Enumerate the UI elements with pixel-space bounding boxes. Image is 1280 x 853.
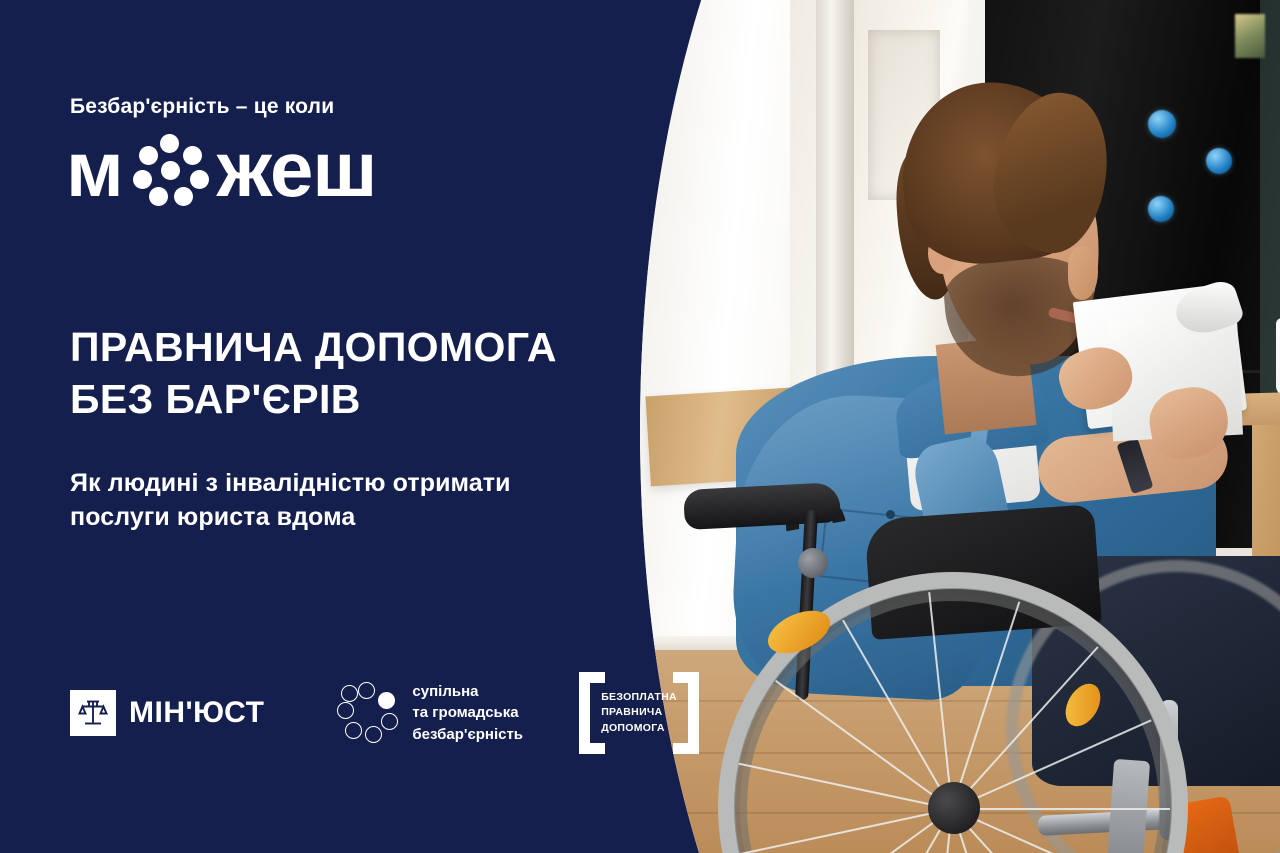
fridge-sticker <box>1235 14 1265 58</box>
dot-circle-cluster-icon <box>127 128 213 210</box>
kicker-text: Безбар'єрність – це коли <box>70 95 334 119</box>
bpd-line-2: ПРАВНИЧА <box>601 706 662 718</box>
subhead-line-1: Як людині з інвалідністю отримати <box>70 467 511 501</box>
subhead-line-2: послуги юриста вдома <box>70 501 511 535</box>
square-bracket-left-icon <box>579 672 605 754</box>
logo-minjust-label: МІН'ЮСТ <box>129 696 264 730</box>
bezbar-line-1: супільна <box>412 683 478 700</box>
wheel-spoke <box>952 808 1170 810</box>
shirt-button <box>886 510 895 519</box>
headline-line-2: БЕЗ БАР'ЄРІВ <box>70 374 557 426</box>
fridge-magnet <box>1148 110 1176 138</box>
bezbar-line-3: безбар'єрність <box>412 726 523 743</box>
photo-region <box>640 0 1280 853</box>
bpd-line-3: ДОПОМОГА <box>601 722 665 734</box>
bpd-line-1: БЕЗОПЛАТНА <box>601 691 677 703</box>
coffee-mug <box>1276 318 1280 396</box>
photo-circle-mask <box>640 0 1280 853</box>
logo-bezbariernist: супільна та громадська безбар'єрність <box>336 681 523 745</box>
page-subtitle: Як людині з інвалідністю отримати послуг… <box>70 467 511 534</box>
page-title: ПРАВНИЧА ДОПОМОГА БЕЗ БАР'ЄРІВ <box>70 322 557 425</box>
mozhesh-wordmark: м жеш <box>66 128 376 210</box>
headline-line-1: ПРАВНИЧА ДОПОМОГА <box>70 322 557 374</box>
poster-root: Безбар'єрність – це коли м жеш ПРАВНИЧА … <box>0 0 1280 853</box>
logo-bpd-label: БЕЗОПЛАТНА ПРАВНИЧА ДОПОМОГА <box>601 690 677 736</box>
dot-ring-icon <box>336 682 398 744</box>
fridge-magnet <box>1148 196 1174 222</box>
logo-bezbariernist-label: супільна та громадська безбар'єрність <box>412 681 523 745</box>
wheel-hub <box>928 782 980 834</box>
wordmark-prefix: м <box>66 130 123 208</box>
photo-illustration <box>640 0 1280 853</box>
wheelchair-adjust-knob <box>798 548 828 578</box>
wordmark-suffix: жеш <box>217 130 377 208</box>
logo-bezoplatna-pravnycha-dopomoha: БЕЗОПЛАТНА ПРАВНИЧА ДОПОМОГА <box>579 672 699 754</box>
scales-of-justice-icon <box>70 690 116 736</box>
logo-minjust: МІН'ЮСТ <box>70 690 264 736</box>
square-bracket-right-icon <box>673 672 699 754</box>
bezbar-line-2: та громадська <box>412 704 518 721</box>
footer-logos: МІН'ЮСТ супільна та громадська безбар'єр… <box>70 672 699 754</box>
fridge-magnet <box>1206 148 1232 174</box>
